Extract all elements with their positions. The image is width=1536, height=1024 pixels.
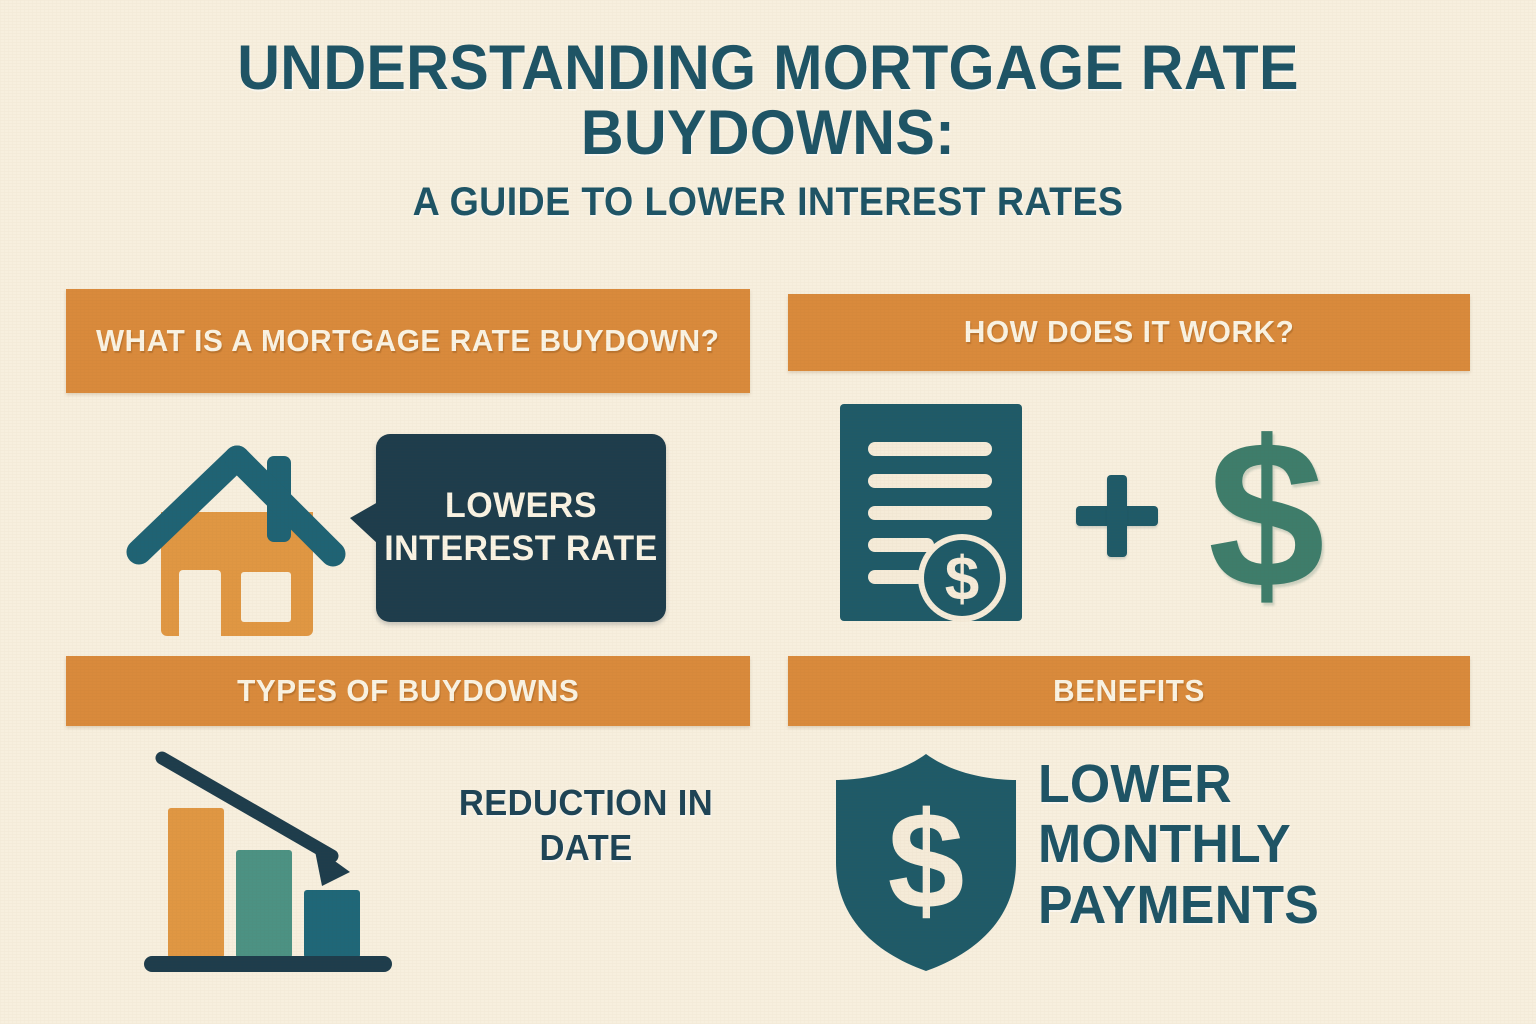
svg-text:$: $ bbox=[945, 545, 979, 614]
benefits-label: Lower Monthly Payments bbox=[1038, 754, 1441, 935]
section-body-types: Reduction in Date bbox=[66, 740, 750, 980]
section-body-benefits: $ Lower Monthly Payments bbox=[788, 740, 1470, 990]
dollar-coin-icon: $ bbox=[918, 534, 1006, 622]
speech-bubble-icon: Lowers Interest Rate bbox=[376, 434, 666, 622]
title-line-1: Understanding Mortgage Rate bbox=[46, 36, 1490, 101]
section-header-benefits-label: Benefits bbox=[1053, 673, 1205, 710]
section-header-benefits: Benefits bbox=[788, 656, 1470, 726]
section-header-how-it-works: How Does it Work? bbox=[788, 294, 1470, 371]
section-header-types-label: Types of Buydowns bbox=[237, 673, 579, 710]
benefit-line-3: Payments bbox=[1038, 875, 1441, 935]
house-icon bbox=[121, 434, 371, 639]
shield-dollar-icon: $ bbox=[826, 750, 1026, 975]
how-it-works-equation: $ $ bbox=[836, 400, 1323, 630]
section-header-what-is-label: What is a Mortgage Rate Buydown? bbox=[96, 323, 720, 360]
callout-text: Lowers Interest Rate bbox=[380, 485, 661, 570]
bar-chart-icon bbox=[136, 750, 416, 980]
section-body-how-it-works: $ $ bbox=[788, 400, 1470, 635]
document-icon: $ bbox=[836, 400, 1026, 630]
title-subtitle: A Guide to Lower Interest Rates bbox=[46, 180, 1490, 225]
section-body-what-is: Lowers Interest Rate bbox=[66, 420, 750, 640]
section-header-what-is: What is a Mortgage Rate Buydown? bbox=[66, 289, 750, 393]
section-header-types: Types of Buydowns bbox=[66, 656, 750, 726]
svg-text:$: $ bbox=[888, 784, 965, 938]
benefit-line-1: Lower bbox=[1038, 754, 1441, 814]
types-label: Reduction in Date bbox=[442, 780, 730, 871]
dollar-sign-icon: $ bbox=[1208, 433, 1323, 597]
section-header-how-it-works-label: How Does it Work? bbox=[964, 314, 1295, 351]
page-title: Understanding Mortgage Rate Buydowns: A … bbox=[0, 36, 1536, 225]
title-line-2: Buydowns: bbox=[46, 101, 1490, 166]
benefit-line-2: Monthly bbox=[1038, 814, 1441, 874]
plus-icon bbox=[1072, 470, 1162, 560]
